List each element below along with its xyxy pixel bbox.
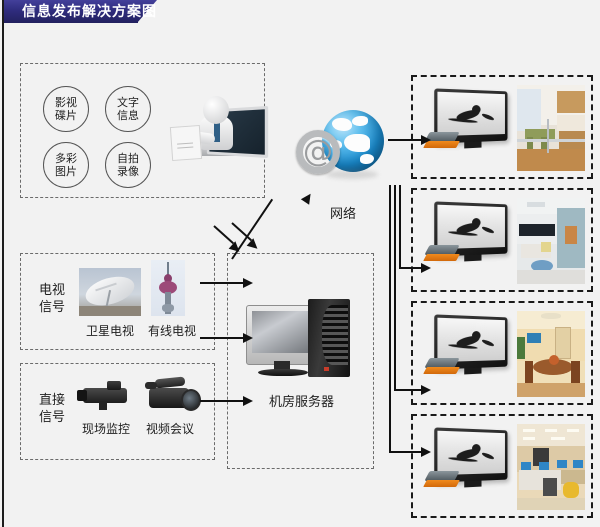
connector-sources-to-server-a [213, 225, 234, 244]
tv-tower-icon [151, 260, 185, 316]
set-top-box-base [423, 367, 460, 374]
source-circle-0-line2: 碟片 [55, 109, 77, 122]
bus-line-2 [394, 185, 396, 391]
set-top-box-icon [425, 245, 459, 262]
source-circle-0: 影视 碟片 [43, 86, 89, 132]
camcorder-handle [155, 376, 186, 388]
camera-body [83, 388, 127, 403]
source-circle-1-line1: 文字 [117, 96, 139, 109]
connector-sources-to-server-b-arrow [247, 238, 261, 252]
diagram-canvas: 信息发布解决方案图 影视 碟片 文字 信息 多彩 图片 自拍 录像 [0, 0, 600, 527]
camcorder-mic [145, 382, 157, 389]
pc-tower [308, 299, 350, 377]
tv-signal-label-line1: 电视 [31, 282, 73, 299]
page-title: 信息发布解决方案图 [22, 2, 157, 22]
figure-head [203, 96, 229, 124]
source-circle-0-line1: 影视 [55, 96, 77, 109]
camcorder-icon [141, 376, 201, 414]
tv-signal-group-label: 电视 信号 [31, 282, 73, 316]
title-banner: 信息发布解决方案图 [4, 0, 154, 23]
monitor-base [258, 369, 308, 376]
source-circle-2-line1: 多彩 [55, 152, 77, 165]
office-workstations-photo [517, 424, 585, 510]
tv-stand [464, 481, 482, 488]
dining-kitchen-room-photo [517, 85, 585, 171]
desktop-computer-and-tower-icon [246, 299, 356, 381]
source-circle-1: 文字 信息 [105, 86, 151, 132]
set-top-box-base [423, 254, 460, 261]
set-top-box-icon [425, 471, 459, 488]
endpoint-3-panel [411, 301, 593, 405]
camcorder-lens [181, 389, 201, 411]
tv-signal-label-line2: 信号 [31, 299, 73, 316]
source-circle-3: 自拍 录像 [105, 142, 151, 188]
connector-bus-to-endpoint-4 [389, 451, 424, 453]
connector-bus-to-endpoint-3-arrow [421, 385, 431, 395]
tv-stand [464, 368, 482, 375]
direct-signal-label-line2: 信号 [31, 409, 73, 426]
connector-tv-to-server-arrow [243, 278, 253, 288]
direct-signal-label-line1: 直接 [31, 392, 73, 409]
direct-signal-item-0-label: 现场监控 [71, 422, 141, 437]
connector-mid-to-server [200, 337, 244, 339]
tv-screen [437, 431, 504, 475]
camera-top [107, 381, 121, 390]
set-top-box-base [423, 480, 460, 487]
content-sources-panel: 影视 碟片 文字 信息 多彩 图片 自拍 录像 [20, 63, 265, 198]
connector-direct-to-server-arrow [243, 396, 253, 406]
source-circle-3-line2: 录像 [117, 165, 139, 178]
security-camera-icon [77, 380, 135, 414]
connector-mid-to-server-arrow [243, 333, 253, 343]
connector-network-to-endpoint-1-arrow [421, 135, 431, 145]
living-room-photo [517, 198, 585, 284]
page-left-border [2, 0, 4, 527]
globe-shadow [326, 170, 378, 179]
connector-server-to-network-arrow [301, 191, 315, 205]
connector-bus-to-endpoint-4-arrow [421, 447, 431, 457]
direct-signal-panel: 直接 信号 现场监控 视频会议 [20, 363, 215, 460]
network-label: 网络 [330, 206, 380, 223]
endpoint-2-panel [411, 188, 593, 292]
figure-paper [170, 125, 202, 161]
bus-line-3 [399, 185, 401, 269]
camera-lens [77, 390, 87, 401]
tv-screen [437, 205, 504, 249]
source-circle-1-line2: 信息 [117, 109, 139, 122]
camera-mount [99, 402, 107, 410]
tv-signal-item-1-label: 有线电视 [137, 324, 207, 339]
tv-screen [437, 318, 504, 362]
direct-signal-group-label: 直接 信号 [31, 392, 73, 426]
connector-bus-to-endpoint-3 [394, 389, 424, 391]
connector-bus-to-endpoint-2-arrow [421, 263, 431, 273]
tv-stand [464, 255, 482, 262]
network-cloud-group [296, 108, 388, 186]
connector-network-to-endpoint-1 [388, 139, 424, 141]
dining-room-photo [517, 311, 585, 397]
tv-signal-item-0-label: 卫星电视 [75, 324, 145, 339]
pc-tower-led [324, 367, 329, 371]
tv-screen [437, 92, 504, 136]
monitor-screen [252, 311, 316, 353]
set-top-box-icon [425, 358, 459, 375]
at-sign-icon [296, 130, 340, 174]
connector-direct-to-server [200, 400, 244, 402]
direct-signal-item-1-label: 视频会议 [135, 422, 205, 437]
bus-line-1 [389, 185, 391, 453]
source-circle-2: 多彩 图片 [43, 142, 89, 188]
endpoint-4-panel [411, 414, 593, 518]
pc-tower-vents [322, 305, 348, 365]
person-at-laptop-icon [169, 92, 269, 170]
tv-stand [464, 142, 482, 149]
source-circle-3-line1: 自拍 [117, 152, 139, 165]
source-circle-2-line2: 图片 [55, 165, 77, 178]
tv-signal-panel: 电视 信号 卫星电视 有线电视 [20, 253, 215, 350]
endpoint-1-panel [411, 75, 593, 179]
satellite-dish-icon [79, 268, 141, 316]
connector-tv-to-server [200, 282, 244, 284]
